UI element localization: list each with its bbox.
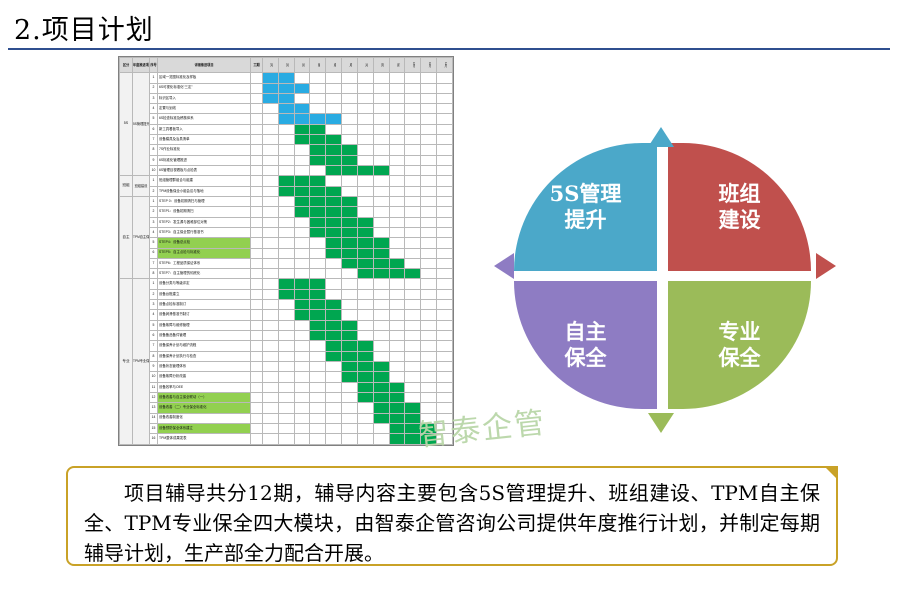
gantt-duration-cell [251,104,263,114]
gantt-empty-cell [278,248,294,258]
gantt-empty-cell [373,279,389,289]
gantt-empty-cell [389,124,405,134]
gantt-month-header: 11月 [421,58,437,73]
gantt-empty-cell [278,300,294,310]
gantt-empty-cell [421,289,437,299]
gantt-duration-cell [251,166,263,176]
gantt-empty-cell [357,114,373,124]
gantt-category-cell: 5S [120,73,133,176]
gantt-empty-cell [437,392,453,402]
gantt-row-number: 6 [150,124,158,134]
gantt-empty-cell [389,238,405,248]
gantt-empty-cell [310,372,326,382]
gantt-task-name: STEP7：自主管理的彻底化 [158,269,251,279]
gantt-empty-cell [342,423,358,433]
gantt-empty-cell [278,392,294,402]
gantt-month-header: 1月 [263,58,279,73]
gantt-month-header: 7月 [357,58,373,73]
gantt-empty-cell [294,248,310,258]
gantt-bar-cell [326,341,342,351]
gantt-bar-cell [389,413,405,423]
gantt-empty-cell [437,145,453,155]
gantt-empty-cell [310,382,326,392]
gantt-empty-cell [405,248,421,258]
gantt-row: 4设备润滑基准书制订 [120,310,453,320]
gantt-empty-cell [405,155,421,165]
gantt-empty-cell [373,289,389,299]
gantt-empty-cell [437,93,453,103]
gantt-empty-cell [437,238,453,248]
gantt-empty-cell [421,124,437,134]
gantt-empty-cell [437,331,453,341]
gantt-empty-cell [342,392,358,402]
gantt-empty-cell [405,341,421,351]
gantt-empty-cell [326,83,342,93]
gantt-bar-cell [357,166,373,176]
gantt-empty-cell [310,351,326,361]
gantt-row: 9设备状态管理体系 [120,361,453,371]
gantt-bar-cell [357,248,373,258]
gantt-empty-cell [437,269,453,279]
gantt-empty-cell [421,341,437,351]
gantt-empty-cell [421,196,437,206]
gantt-empty-cell [437,341,453,351]
gantt-empty-cell [421,104,437,114]
gantt-empty-cell [263,413,279,423]
gantt-empty-cell [389,83,405,93]
gantt-task-name: 区域一览图标准化及样板 [158,73,251,83]
gantt-empty-cell [326,269,342,279]
arrow-left-icon [494,253,514,279]
gantt-empty-cell [389,331,405,341]
gantt-empty-cell [405,227,421,237]
gantt-bar-cell [278,73,294,83]
gantt-task-name: 设备故障分析改善 [158,372,251,382]
gantt-empty-cell [373,300,389,310]
gantt-empty-cell [294,258,310,268]
gantt-row: 3设备点检标准制订 [120,300,453,310]
gantt-row-number: 4 [150,310,158,320]
gantt-duration-cell [251,423,263,433]
gantt-empty-cell [421,361,437,371]
gantt-empty-cell [421,310,437,320]
gantt-empty-cell [405,104,421,114]
gantt-row-number: 2 [150,207,158,217]
gantt-bar-cell [342,341,358,351]
gantt-empty-cell [294,341,310,351]
gantt-bar-cell [310,196,326,206]
gantt-duration-cell [251,434,263,445]
gantt-row-number: 2 [150,83,158,93]
gantt-bar-cell [294,135,310,145]
gantt-empty-cell [263,238,279,248]
gantt-row: 6新工具看板导入 [120,124,453,134]
gantt-duration-cell [251,238,263,248]
quadrant-5s-management: 5S管理 提升 [514,143,657,271]
gantt-row: 4定置与划线 [120,104,453,114]
gantt-empty-cell [405,135,421,145]
gantt-empty-cell [310,361,326,371]
gantt-duration-cell [251,145,263,155]
gantt-bar-cell [389,258,405,268]
gantt-empty-cell [342,279,358,289]
gantt-empty-cell [357,320,373,330]
gantt-row-number: 7 [150,258,158,268]
gantt-row-number: 3 [150,93,158,103]
gantt-task-name: 设备改善制度化 [158,413,251,423]
gantt-empty-cell [263,351,279,361]
gantt-bar-cell [294,196,310,206]
arrow-down-icon [648,413,674,433]
gantt-row: 4STEP3：自主保全暂行基准书 [120,227,453,237]
gantt-row-number: 9 [150,155,158,165]
gantt-bar-cell [294,310,310,320]
gantt-empty-cell [389,227,405,237]
gantt-row-number: 6 [150,248,158,258]
gantt-duration-cell [251,248,263,258]
gantt-bar-cell [310,176,326,186]
gantt-bar-cell [326,114,342,124]
gantt-month-header: 6月 [342,58,358,73]
gantt-row-number: 1 [150,196,158,206]
gantt-empty-cell [357,73,373,83]
gantt-bar-cell [310,207,326,217]
gantt-bar-cell [294,279,310,289]
quadrant-prof-line2: 保全 [719,345,761,370]
gantt-bar-cell [310,186,326,196]
gantt-empty-cell [263,403,279,413]
gantt-empty-cell [294,403,310,413]
gantt-category-cell: 专业 [120,279,133,445]
gantt-bar-cell [310,279,326,289]
gantt-empty-cell [405,196,421,206]
gantt-bar-cell [294,300,310,310]
gantt-empty-cell [342,114,358,124]
gantt-bar-cell [326,227,342,237]
gantt-empty-cell [421,238,437,248]
gantt-row: 3STEP2：发生源与困难部位对策 [120,217,453,227]
gantt-task-name: 设备分类与等级评定 [158,279,251,289]
gantt-header-cell: 年度推进项目 [133,58,150,73]
gantt-row-number: 1 [150,176,158,186]
gantt-duration-cell [251,73,263,83]
gantt-empty-cell [405,145,421,155]
gantt-empty-cell [373,83,389,93]
gantt-empty-cell [310,413,326,423]
gantt-row: 7STEP6：工程品质保证体系 [120,258,453,268]
gantt-empty-cell [437,186,453,196]
gantt-empty-cell [421,73,437,83]
gantt-empty-cell [405,124,421,134]
gantt-bar-cell [389,269,405,279]
gantt-table: 区分年度推进项目序号详细推进项目工期1月2月3月4月5月6月7月8月9月10月1… [119,57,453,445]
gantt-empty-cell [263,434,279,445]
gantt-empty-cell [294,166,310,176]
gantt-empty-cell [437,248,453,258]
gantt-empty-cell [357,300,373,310]
gantt-empty-cell [278,341,294,351]
gantt-row-number: 4 [150,227,158,237]
gantt-empty-cell [342,310,358,320]
gantt-empty-cell [421,155,437,165]
quadrant-auto-line2: 保全 [565,345,607,370]
gantt-empty-cell [278,423,294,433]
gantt-bar-cell [373,372,389,382]
gantt-bar-cell [310,124,326,134]
gantt-category-cell: 自主 [120,196,133,279]
gantt-row-number: 9 [150,361,158,371]
gantt-empty-cell [310,434,326,445]
gantt-empty-cell [389,135,405,145]
gantt-empty-cell [278,238,294,248]
gantt-header-cell: 序号 [150,58,158,73]
gantt-empty-cell [342,186,358,196]
gantt-bar-cell [294,104,310,114]
gantt-empty-cell [437,176,453,186]
gantt-row: 56S检查标准及稽核体系 [120,114,453,124]
gantt-empty-cell [263,166,279,176]
gantt-empty-cell [263,300,279,310]
gantt-empty-cell [437,196,453,206]
gantt-duration-cell [251,217,263,227]
gantt-bar-cell [373,258,389,268]
gantt-bar-cell [357,382,373,392]
gantt-row: 10设备故障分析改善 [120,372,453,382]
gantt-empty-cell [357,196,373,206]
gantt-empty-cell [357,155,373,165]
gantt-empty-cell [294,392,310,402]
gantt-empty-cell [278,361,294,371]
gantt-empty-cell [310,104,326,114]
gantt-empty-cell [294,382,310,392]
gantt-header-cell: 详细推进项目 [158,58,251,73]
gantt-empty-cell [357,124,373,134]
gantt-empty-cell [389,372,405,382]
gantt-empty-cell [263,310,279,320]
gantt-empty-cell [326,279,342,289]
gantt-empty-cell [389,289,405,299]
gantt-empty-cell [326,124,342,134]
gantt-bar-cell [342,238,358,248]
gantt-month-header: 8月 [373,58,389,73]
gantt-empty-cell [405,279,421,289]
gantt-empty-cell [437,361,453,371]
gantt-task-name: 6S管理目视看板与点检表 [158,166,251,176]
gantt-empty-cell [310,403,326,413]
gantt-task-name: 设备状态管理体系 [158,361,251,371]
gantt-bar-cell [326,248,342,258]
gantt-bar-cell [310,155,326,165]
gantt-bar-cell [342,196,358,206]
gantt-empty-cell [373,176,389,186]
gantt-bar-cell [389,382,405,392]
gantt-empty-cell [421,207,437,217]
gantt-duration-cell [251,372,263,382]
gantt-empty-cell [326,382,342,392]
gantt-empty-cell [421,382,437,392]
gantt-duration-cell [251,258,263,268]
gantt-bar-cell [326,207,342,217]
title-divider [8,48,890,50]
gantt-row: 16TPM整体成果发表 [120,434,453,445]
gantt-empty-cell [357,403,373,413]
gantt-empty-cell [263,155,279,165]
gantt-empty-cell [405,331,421,341]
gantt-empty-cell [357,413,373,423]
gantt-empty-cell [405,361,421,371]
gantt-bar-cell [357,351,373,361]
gantt-empty-cell [373,341,389,351]
gantt-empty-cell [263,320,279,330]
gantt-empty-cell [294,361,310,371]
gantt-row: 26S可视化标准化“三定” [120,83,453,93]
gantt-duration-cell [251,269,263,279]
gantt-empty-cell [278,382,294,392]
gantt-empty-cell [405,176,421,186]
gantt-empty-cell [373,331,389,341]
gantt-empty-cell [421,392,437,402]
gantt-empty-cell [278,310,294,320]
gantt-bar-cell [389,423,405,433]
gantt-empty-cell [326,104,342,114]
gantt-empty-cell [278,217,294,227]
gantt-bar-cell [373,238,389,248]
gantt-task-name: 设备备品备件管理 [158,331,251,341]
gantt-category-cell: 班组 [120,176,133,197]
gantt-empty-cell [421,258,437,268]
gantt-row-number: 14 [150,413,158,423]
gantt-row: 6设备备品备件管理 [120,331,453,341]
gantt-empty-cell [421,269,437,279]
gantt-empty-cell [373,145,389,155]
gantt-row-number: 2 [150,186,158,196]
gantt-empty-cell [263,341,279,351]
gantt-task-name: 设备模具及治具清单 [158,135,251,145]
gantt-empty-cell [263,114,279,124]
gantt-month-header: 4月 [310,58,326,73]
gantt-empty-cell [357,83,373,93]
gantt-empty-cell [389,351,405,361]
gantt-row: 2STEP1：设备初期清扫 [120,207,453,217]
gantt-empty-cell [421,331,437,341]
gantt-bar-cell [373,413,389,423]
gantt-empty-cell [437,320,453,330]
gantt-bar-cell [326,351,342,361]
gantt-bar-cell [326,300,342,310]
quadrant-5s-line2: 提升 [565,207,607,232]
gantt-empty-cell [389,310,405,320]
gantt-duration-cell [251,382,263,392]
gantt-empty-cell [421,186,437,196]
gantt-row-number: 8 [150,351,158,361]
gantt-empty-cell [342,382,358,392]
gantt-bar-cell [342,207,358,217]
gantt-bar-cell [294,289,310,299]
gantt-empty-cell [294,423,310,433]
gantt-row-number: 16 [150,434,158,445]
gantt-bar-cell [373,248,389,258]
gantt-empty-cell [278,331,294,341]
gantt-empty-cell [373,227,389,237]
gantt-bar-cell [294,114,310,124]
gantt-empty-cell [263,145,279,155]
gantt-bar-cell [326,331,342,341]
gantt-task-name: 标识区导入 [158,93,251,103]
gantt-row-number: 1 [150,73,158,83]
gantt-empty-cell [405,207,421,217]
gantt-task-name: 新工具看板导入 [158,124,251,134]
gantt-bar-cell [326,217,342,227]
gantt-empty-cell [421,300,437,310]
gantt-empty-cell [357,135,373,145]
gantt-row: 13设备改善（二）专业保全标准化 [120,403,453,413]
gantt-empty-cell [326,392,342,402]
gantt-row: 7设备模具及治具清单 [120,135,453,145]
gantt-duration-cell [251,196,263,206]
gantt-empty-cell [437,73,453,83]
quadrant-autonomous-maintenance: 自主 保全 [514,281,657,409]
gantt-empty-cell [405,372,421,382]
gantt-header-cell: 区分 [120,58,133,73]
gantt-row-number: 2 [150,289,158,299]
gantt-task-name: 设备改善（二）专业保全标准化 [158,403,251,413]
gantt-duration-cell [251,289,263,299]
gantt-empty-cell [437,166,453,176]
gantt-bar-cell [278,83,294,93]
gantt-empty-cell [373,93,389,103]
gantt-empty-cell [405,258,421,268]
gantt-bar-cell [326,166,342,176]
gantt-empty-cell [263,258,279,268]
gantt-row-number: 7 [150,135,158,145]
gantt-duration-cell [251,331,263,341]
gantt-empty-cell [437,310,453,320]
gantt-row: 自主TPM自主保全1STEP 0：设备初期清扫与管理 [120,196,453,206]
gantt-empty-cell [278,124,294,134]
gantt-empty-cell [405,166,421,176]
gantt-empty-cell [357,104,373,114]
gantt-duration-cell [251,93,263,103]
gantt-empty-cell [389,248,405,258]
gantt-bar-cell [310,227,326,237]
gantt-empty-cell [389,361,405,371]
gantt-empty-cell [294,155,310,165]
gantt-bar-cell [342,155,358,165]
gantt-empty-cell [342,124,358,134]
gantt-empty-cell [437,372,453,382]
gantt-empty-cell [373,73,389,83]
gantt-row-number: 1 [150,279,158,289]
gantt-empty-cell [294,217,310,227]
gantt-bar-cell [357,392,373,402]
gantt-bar-cell [326,310,342,320]
gantt-row: 5设备故障与维修管理 [120,320,453,330]
gantt-bar-cell [342,248,358,258]
gantt-duration-cell [251,403,263,413]
gantt-empty-cell [373,186,389,196]
gantt-empty-cell [405,114,421,124]
gantt-duration-cell [251,392,263,402]
gantt-row: 5STEP4：设备总点检 [120,238,453,248]
gantt-bar-cell [342,145,358,155]
gantt-empty-cell [421,320,437,330]
gantt-bar-cell [263,83,279,93]
gantt-duration-cell [251,413,263,423]
gantt-task-name: STEP5：自主点检与标准化 [158,248,251,258]
quadrant-team-line1: 班组 [719,181,761,206]
corner-fold-icon [824,466,838,480]
gantt-empty-cell [263,279,279,289]
